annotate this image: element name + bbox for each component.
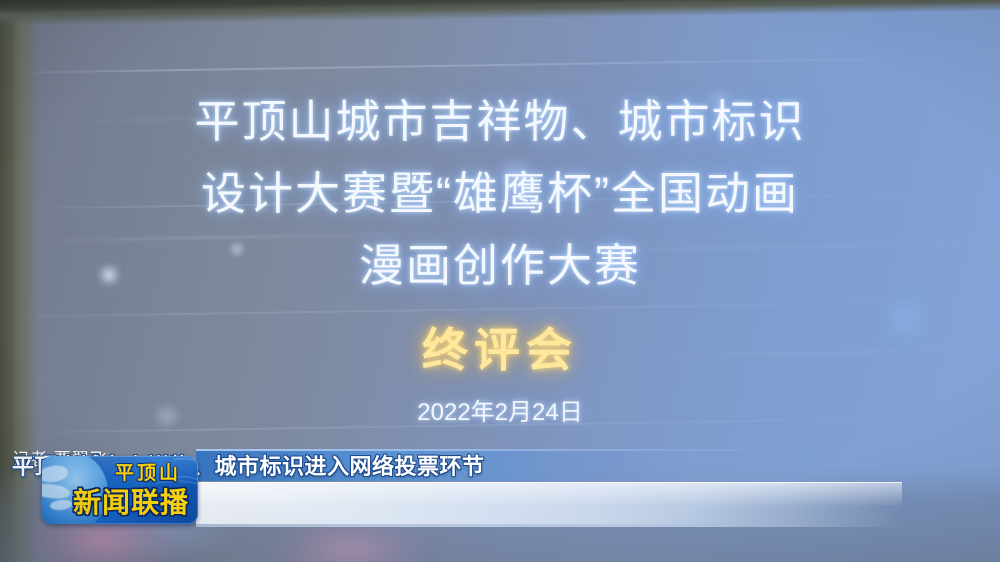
headline-band	[196, 482, 902, 527]
slide-title-line-3: 漫画创作大赛	[0, 240, 1000, 292]
slide-title-line-1: 平顶山城市吉祥物、城市标识	[0, 96, 1000, 148]
headline-band-sheen	[196, 482, 902, 505]
headline-band-underline	[196, 524, 902, 527]
reporter-band-highlight	[196, 449, 896, 451]
slide-date: 2022年2月24日	[0, 398, 1000, 428]
video-frame: 平顶山城市吉祥物、城市标识 设计大赛暨“雄鹰杯”全国动画 漫画创作大赛 终评会 …	[0, 0, 1000, 562]
slide-title-line-2: 设计大赛暨“雄鹰杯”全国动画	[0, 168, 1000, 220]
lower-third: 记者 贾翼飞 平顶山城市吉祥物、城市标识进入网络投票环节 平顶山 新闻联播	[0, 444, 1000, 534]
slide-subtitle: 终评会	[0, 322, 1000, 378]
channel-logo-program: 新闻联播	[68, 486, 194, 520]
channel-logo-city: 平顶山	[100, 462, 196, 486]
channel-logo-badge: 平顶山 新闻联播	[42, 456, 198, 524]
